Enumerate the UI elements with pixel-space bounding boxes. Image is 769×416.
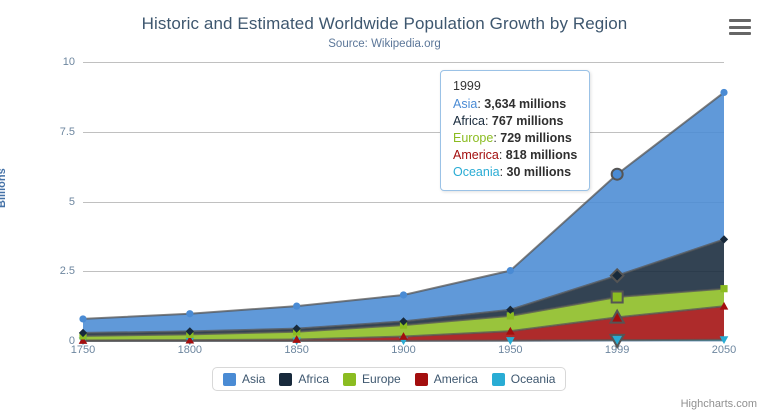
data-point-asia-1999[interactable] [612,169,623,180]
data-point-africa-1950[interactable] [506,306,514,314]
gridline [83,132,724,133]
line-america [83,306,724,340]
data-point-europe-2050[interactable] [720,285,727,292]
x-axis-line [83,341,724,342]
data-point-america-1800[interactable] [186,336,195,344]
area-america [83,306,724,341]
legend-label: America [434,372,478,386]
data-point-asia-1800[interactable] [186,310,193,317]
tooltip-row-asia: Asia: 3,634 millions [453,96,577,113]
chart-subtitle: Source: Wikipedia.org [0,38,769,50]
x-axis-tick-label: 1999 [577,344,657,356]
y-axis-tick-label: 5 [15,196,75,208]
data-point-europe-1900[interactable] [400,321,407,328]
legend-swatch-america [415,373,428,386]
hamburger-menu-icon[interactable] [727,16,753,38]
chart-title: Historic and Estimated Worldwide Populat… [0,14,769,34]
hamburger-bar-2 [729,26,751,29]
x-axis-tick-label: 1850 [257,344,337,356]
legend-item-europe[interactable]: Europe [343,372,401,386]
legend-label: Asia [242,372,265,386]
legend-item-america[interactable]: America [415,372,478,386]
tooltip-series-name: Asia [453,97,477,111]
tooltip-series-name: Africa [453,114,485,128]
tooltip: 1999 Asia: 3,634 millionsAfrica: 767 mil… [440,70,590,191]
data-point-europe-1950[interactable] [507,312,514,319]
tooltip-row-oceania: Oceania: 30 millions [453,164,577,181]
tooltip-row-africa: Africa: 767 millions [453,113,577,130]
gridline [83,271,724,272]
y-axis-tick-label: 7.5 [15,126,75,138]
legend-swatch-oceania [492,373,505,386]
legend-item-oceania[interactable]: Oceania [492,372,556,386]
data-point-america-1999[interactable] [611,311,624,323]
area-asia [83,92,724,332]
data-point-asia-2050[interactable] [720,89,727,96]
data-point-europe-1800[interactable] [186,331,193,338]
data-point-africa-1800[interactable] [186,327,194,335]
data-point-america-2050[interactable] [720,302,729,310]
tooltip-series-value: 767 millions [492,114,564,128]
data-point-africa-1900[interactable] [399,317,407,325]
x-axis-tick-label: 1750 [43,344,123,356]
hamburger-bar-3 [729,32,751,35]
area-africa [83,239,724,335]
tooltip-separator: : [499,148,506,162]
tooltip-row-europe: Europe: 729 millions [453,130,577,147]
x-axis-tick-label: 1950 [470,344,550,356]
tooltip-series-name: Oceania [453,165,500,179]
gridline [83,202,724,203]
data-point-europe-1850[interactable] [293,328,300,335]
data-point-europe-1750[interactable] [79,332,86,339]
data-point-america-1750[interactable] [79,336,88,344]
line-asia [83,92,724,318]
x-axis-tick-label: 1900 [364,344,444,356]
legend-swatch-asia [223,373,236,386]
legend-swatch-africa [279,373,292,386]
legend-label: Africa [298,372,329,386]
data-point-asia-1900[interactable] [400,291,407,298]
legend-item-africa[interactable]: Africa [279,372,329,386]
data-point-asia-1850[interactable] [293,302,300,309]
tooltip-separator: : [485,114,492,128]
tooltip-header: 1999 [453,78,577,95]
line-europe [83,289,724,336]
data-point-america-1950[interactable] [506,327,515,335]
tooltip-series-value: 818 millions [506,148,578,162]
data-point-europe-1999[interactable] [612,292,623,303]
legend[interactable]: AsiaAfricaEuropeAmericaOceania [212,367,566,391]
data-point-asia-1750[interactable] [79,315,86,322]
data-point-africa-1850[interactable] [293,325,301,333]
tooltip-series-name: America [453,148,499,162]
data-point-america-1900[interactable] [399,332,408,340]
tooltip-series-name: Europe [453,131,493,145]
credits-link[interactable]: Highcharts.com [681,398,757,410]
y-axis-title: Billions [0,168,8,208]
y-axis-tick-label: 10 [15,56,75,68]
tooltip-separator: : [500,165,507,179]
legend-swatch-europe [343,373,356,386]
gridline [83,62,724,63]
chart-container: Historic and Estimated Worldwide Populat… [0,0,769,416]
data-point-africa-1750[interactable] [79,329,87,337]
legend-label: Europe [362,372,401,386]
legend-label: Oceania [511,372,556,386]
tooltip-rows: Asia: 3,634 millionsAfrica: 767 millions… [453,96,577,181]
tooltip-series-value: 30 millions [507,165,572,179]
y-axis-tick-label: 2.5 [15,265,75,277]
line-africa [83,239,724,333]
x-axis-tick-label: 1800 [150,344,230,356]
legend-item-asia[interactable]: Asia [223,372,265,386]
tooltip-series-value: 3,634 millions [484,97,566,111]
hamburger-bar-1 [729,19,751,22]
x-axis-tick-label: 2050 [684,344,764,356]
data-point-africa-2050[interactable] [720,235,728,243]
area-europe [83,289,724,341]
tooltip-series-value: 729 millions [500,131,572,145]
tooltip-row-america: America: 818 millions [453,147,577,164]
